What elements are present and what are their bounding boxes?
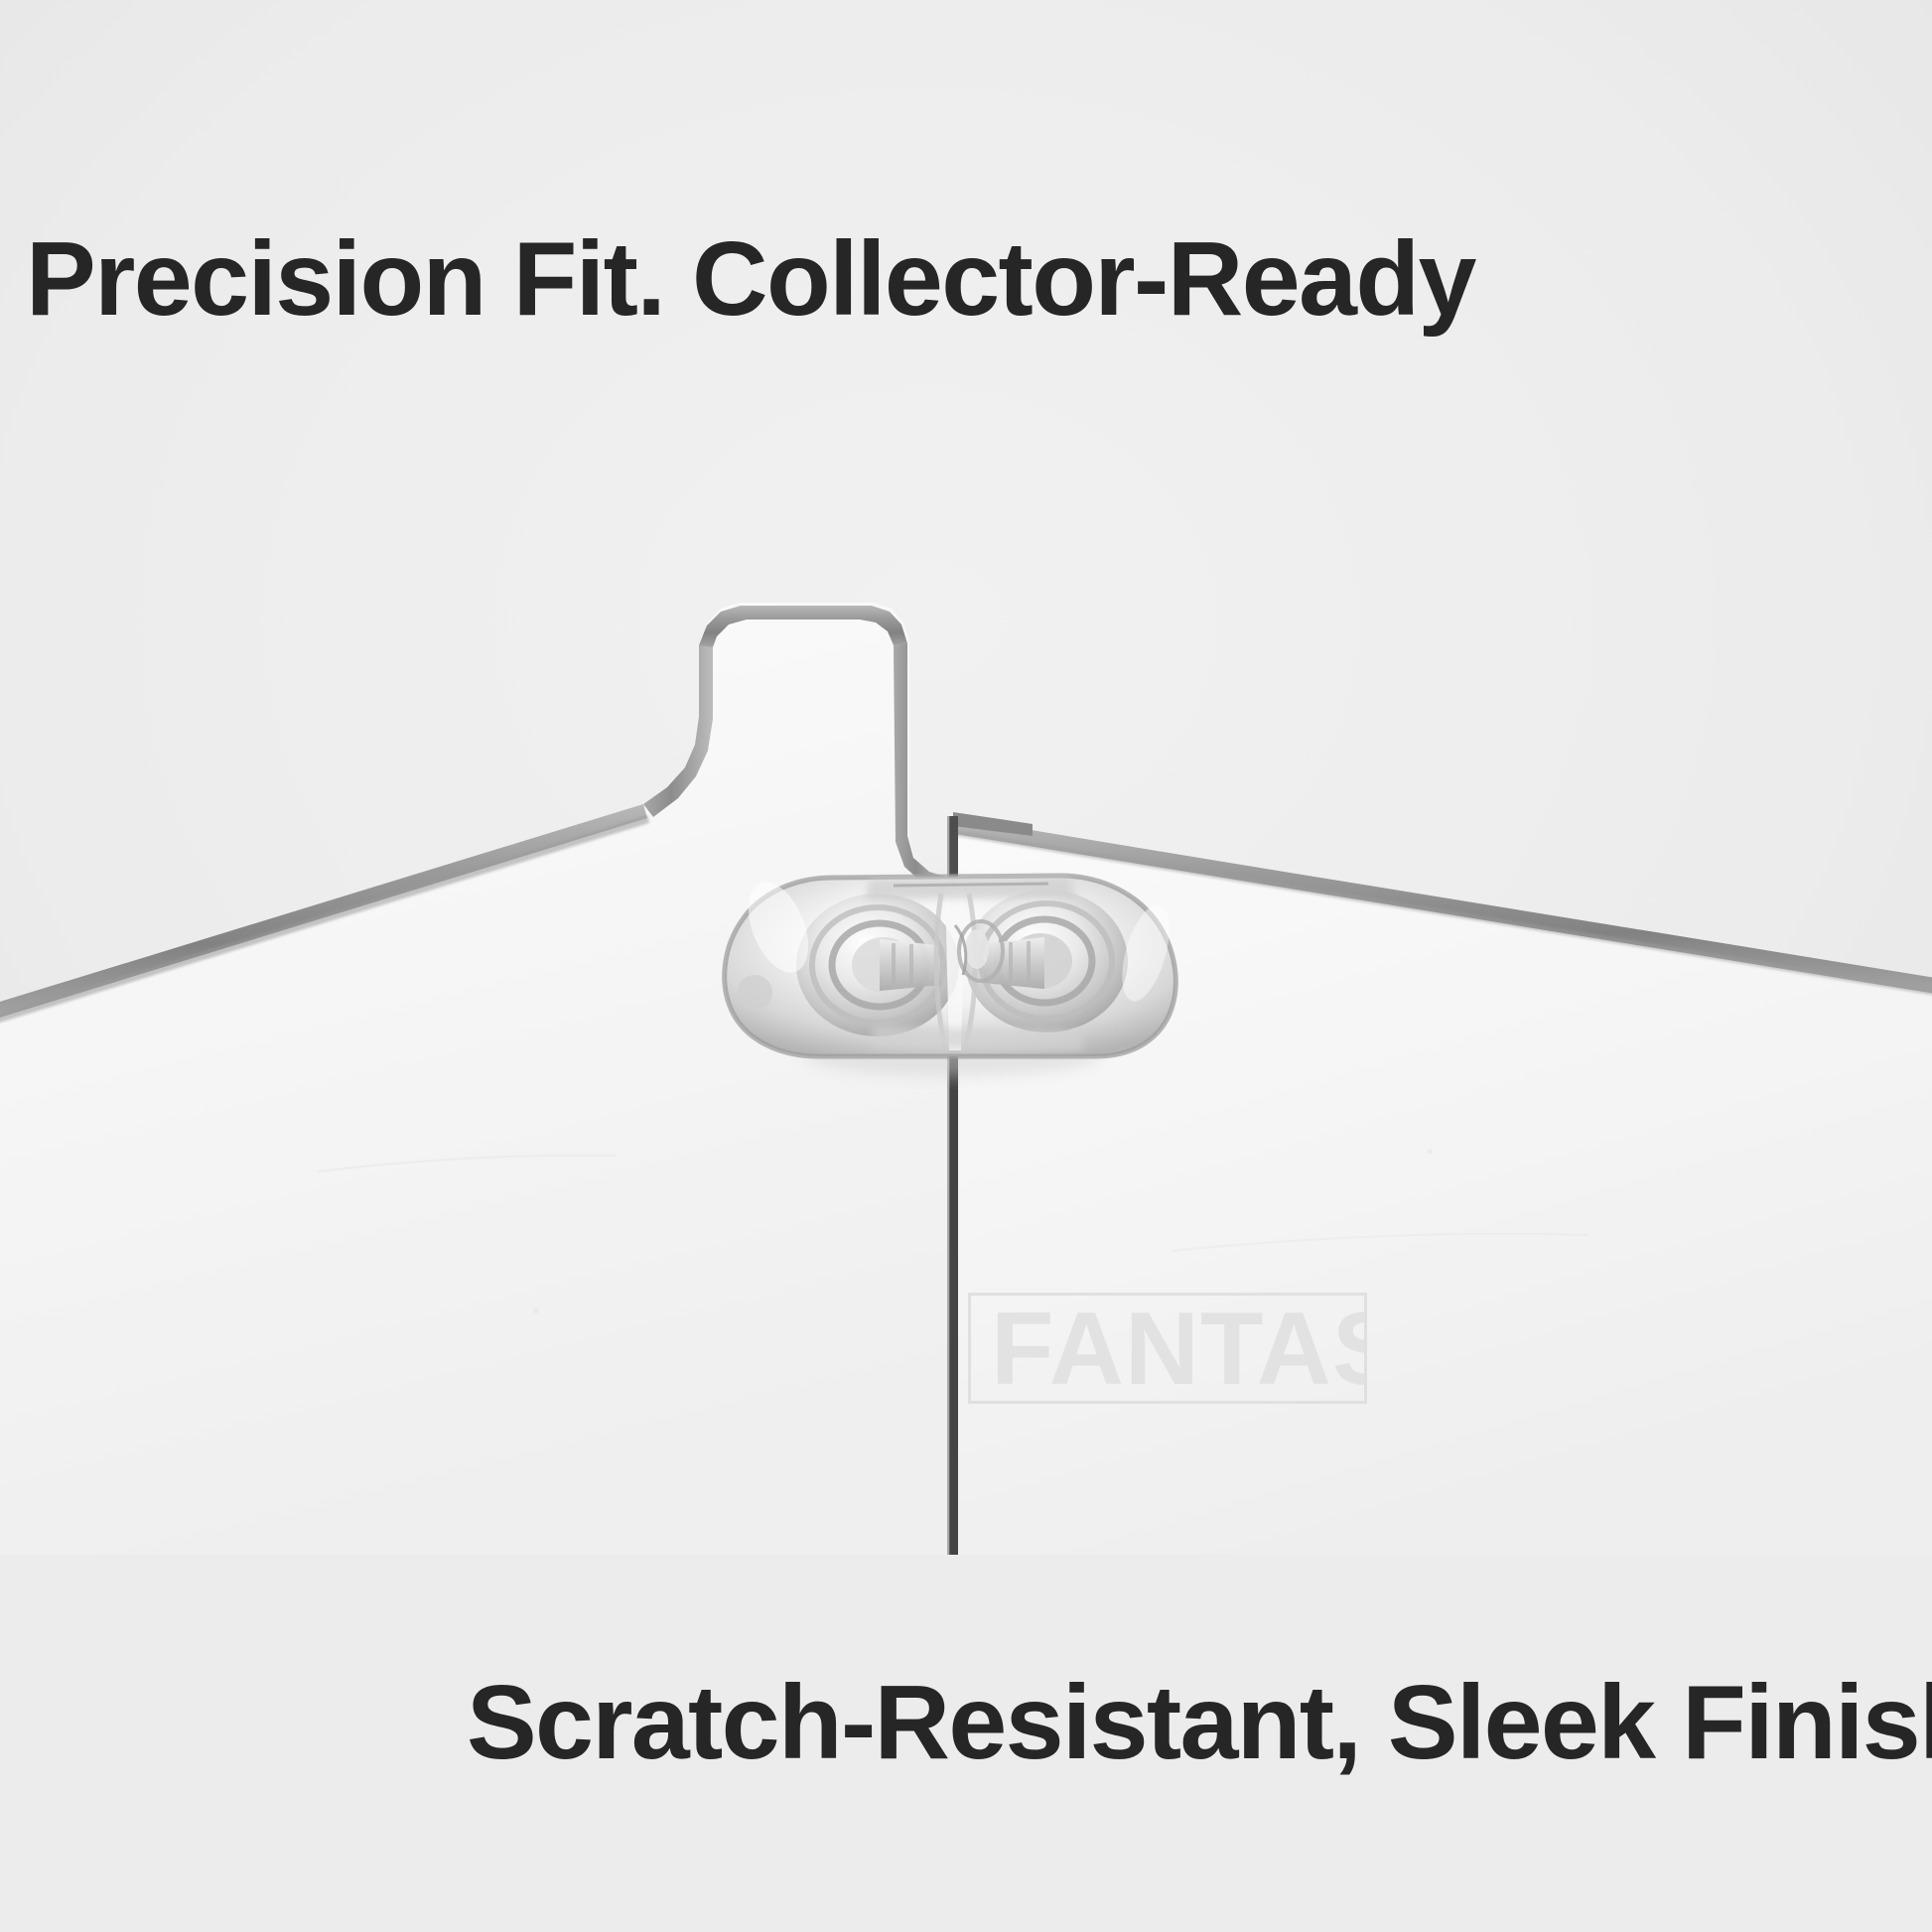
headline-bottom: Scratch-Resistant, Sleek Finish bbox=[467, 1664, 1932, 1782]
clip-top-seam bbox=[866, 878, 1076, 899]
clip-bottom-seam bbox=[872, 1027, 1084, 1050]
clip-right-lobe bbox=[965, 890, 1128, 1033]
screenshot-root: FANTAS Precision Fit. Collector-Ready Sc… bbox=[0, 0, 1932, 1932]
corner-connector-clip bbox=[725, 874, 1178, 1076]
clip-nub-left bbox=[737, 975, 772, 1011]
headline-top: Precision Fit. Collector-Ready bbox=[26, 220, 1714, 339]
bottom-caption-band: Scratch-Resistant, Sleek Finish bbox=[0, 1555, 1932, 1932]
clip-right-post bbox=[983, 937, 1044, 989]
